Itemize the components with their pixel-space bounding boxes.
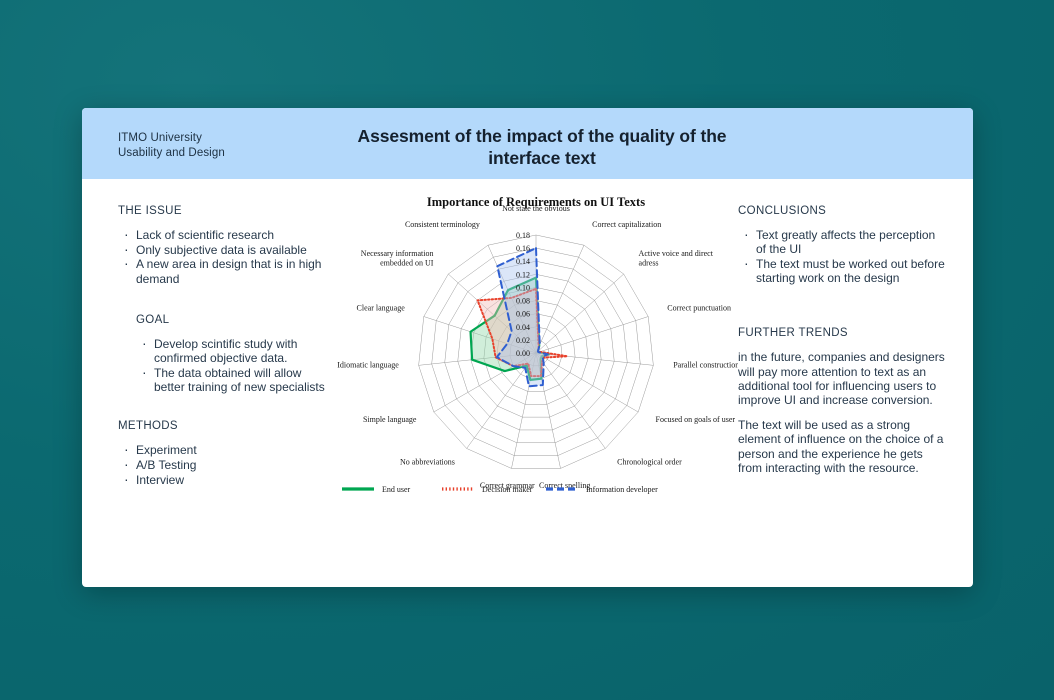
affiliation: ITMO University Usability and Design bbox=[118, 131, 225, 160]
axis-label: Focused on goals of user bbox=[656, 415, 736, 424]
list-item: Text greatly affects the perception of t… bbox=[738, 228, 948, 256]
legend-label: Decision maker bbox=[482, 485, 533, 494]
affiliation-line-2: Usability and Design bbox=[118, 146, 225, 161]
section-heading-goal: GOAL bbox=[136, 314, 328, 326]
grid-spoke bbox=[536, 274, 624, 353]
axis-label: No abbreviations bbox=[400, 458, 455, 467]
further-trends-paragraph-1: in the future, companies and designers w… bbox=[738, 350, 948, 407]
legend-label: Information developer bbox=[586, 485, 658, 494]
tick-label: 0.10 bbox=[516, 283, 530, 292]
tick-label: 0.12 bbox=[516, 270, 530, 279]
axis-label: Parallel construction bbox=[673, 360, 738, 369]
section-further-trends: FURTHER TRENDS in the future, companies … bbox=[738, 327, 948, 475]
tick-label: 0.16 bbox=[516, 244, 530, 253]
poster-header: ITMO University Usability and Design Ass… bbox=[82, 108, 973, 179]
legend-label: End user bbox=[382, 485, 411, 494]
left-column: THE ISSUE Lack of scientific research On… bbox=[118, 179, 328, 487]
conclusions-bullet-list: Text greatly affects the perception of t… bbox=[738, 228, 948, 285]
list-item: Lack of scientific research bbox=[118, 228, 328, 242]
axis-label: Chronological order bbox=[617, 458, 682, 467]
tick-label: 0.06 bbox=[516, 310, 530, 319]
axis-label: Clear language bbox=[357, 303, 406, 312]
section-heading-issue: THE ISSUE bbox=[118, 205, 328, 217]
axis-label: Correct capitalization bbox=[592, 220, 661, 229]
section-heading-methods: METHODS bbox=[118, 420, 328, 432]
tick-label: 0.02 bbox=[516, 336, 530, 345]
axis-label: Active voice and directadress bbox=[639, 249, 714, 268]
section-heading-conclusions: CONCLUSIONS bbox=[738, 205, 948, 217]
section-conclusions: CONCLUSIONS Text greatly affects the per… bbox=[738, 205, 948, 285]
tick-label: 0.18 bbox=[516, 231, 530, 240]
axis-label: Idiomatic language bbox=[337, 360, 399, 369]
poster-body: THE ISSUE Lack of scientific research On… bbox=[82, 179, 973, 587]
list-item: Interview bbox=[118, 473, 328, 487]
section-methods: METHODS Experiment A/B Testing Interview bbox=[118, 420, 328, 487]
section-heading-further-trends: FURTHER TRENDS bbox=[738, 327, 948, 339]
list-item: The data obtained will allow better trai… bbox=[136, 366, 328, 394]
axis-label: Consistent terminology bbox=[405, 220, 480, 229]
grid-spoke bbox=[536, 245, 584, 353]
poster-card: ITMO University Usability and Design Ass… bbox=[82, 108, 973, 587]
axis-label: Correct punctuation bbox=[667, 303, 731, 312]
list-item: Only subjective data is available bbox=[118, 243, 328, 257]
tick-label: 0.08 bbox=[516, 297, 530, 306]
further-trends-paragraph-2: The text will be used as a strong elemen… bbox=[738, 418, 948, 475]
section-the-issue: THE ISSUE Lack of scientific research On… bbox=[118, 205, 328, 286]
tick-label: 0.04 bbox=[516, 323, 530, 332]
issue-bullet-list: Lack of scientific research Only subject… bbox=[118, 228, 328, 286]
axis-label: Simple language bbox=[363, 415, 417, 424]
axis-label: Not state the obvious bbox=[502, 205, 570, 213]
list-item: The text must be worked out before start… bbox=[738, 257, 948, 285]
affiliation-line-1: ITMO University bbox=[118, 131, 225, 146]
radar-chart: Importance of Requirements on UI Texts 0… bbox=[334, 179, 738, 587]
list-item: A new area in design that is in high dem… bbox=[118, 257, 328, 285]
goal-bullet-list: Develop scintific study with confirmed o… bbox=[136, 337, 328, 394]
axis-label: Necessary informationembedded on UI bbox=[361, 249, 434, 268]
tick-label: 0.00 bbox=[516, 349, 530, 358]
list-item: A/B Testing bbox=[118, 458, 328, 472]
tick-label: 0.14 bbox=[516, 257, 530, 266]
list-item: Develop scintific study with confirmed o… bbox=[136, 337, 328, 365]
section-goal: GOAL Develop scintific study with confir… bbox=[136, 314, 328, 394]
page-title: Assesment of the impact of the quality o… bbox=[332, 125, 752, 169]
chart-legend: End userDecision makerInformation develo… bbox=[334, 475, 738, 505]
list-item: Experiment bbox=[118, 443, 328, 457]
methods-bullet-list: Experiment A/B Testing Interview bbox=[118, 443, 328, 487]
grid-spoke bbox=[536, 353, 605, 448]
right-column: CONCLUSIONS Text greatly affects the per… bbox=[738, 179, 948, 475]
